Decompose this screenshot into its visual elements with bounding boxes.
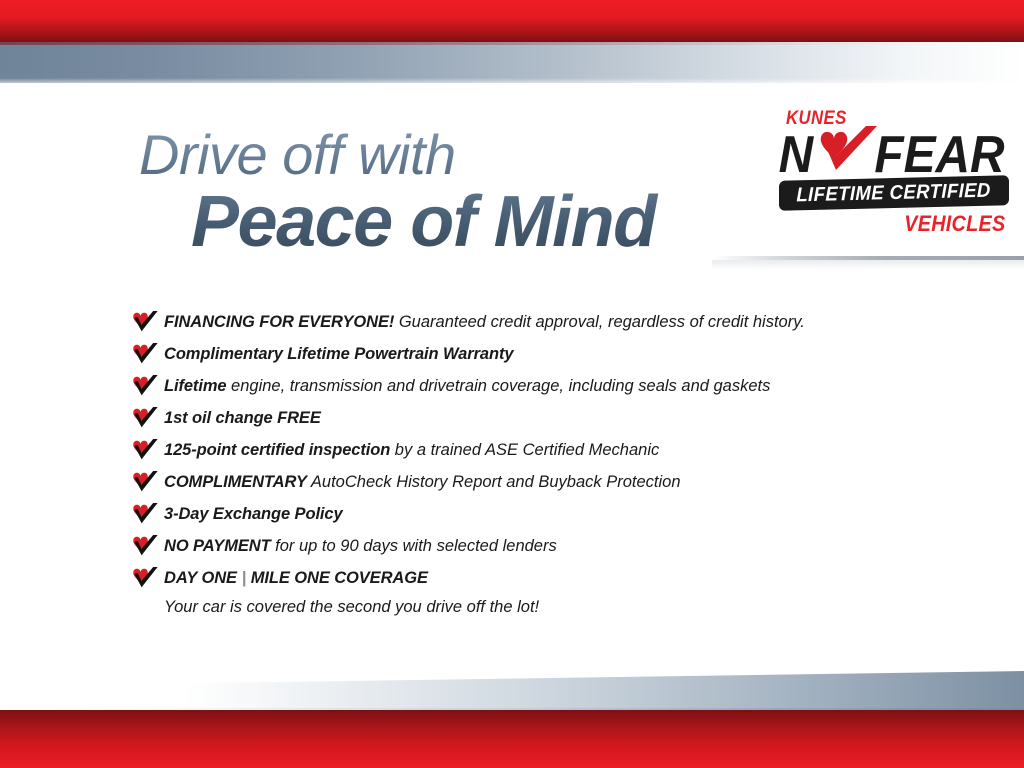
- benefits-list: FINANCING FOR EVERYONE! Guaranteed credi…: [131, 306, 931, 620]
- list-item-text: DAY ONE | MILE ONE COVERAGE: [164, 569, 428, 587]
- logo-no-fear-wordmark: N FEAR: [775, 124, 1013, 180]
- headline-block: Drive off with Peace of Mind: [139, 126, 739, 258]
- list-item-bold: 3-Day Exchange Policy: [164, 505, 343, 523]
- list-item: DAY ONE | MILE ONE COVERAGE Your car is …: [131, 562, 931, 620]
- list-item-rest: AutoCheck History Report and Buyback Pro…: [307, 473, 681, 491]
- logo-lifetime-certified-bar: LIFETIME CERTIFIED: [779, 175, 1009, 211]
- list-item-text: FINANCING FOR EVERYONE! Guaranteed credi…: [164, 313, 805, 331]
- list-item-bold: Complimentary Lifetime Powertrain Warran…: [164, 345, 513, 363]
- list-item: FINANCING FOR EVERYONE! Guaranteed credi…: [131, 306, 931, 338]
- list-item-bold-b: MILE ONE COVERAGE: [251, 569, 428, 587]
- list-item-text: Lifetime engine, transmission and drivet…: [164, 377, 770, 395]
- logo-vehicles-label: VEHICLES: [904, 211, 1005, 237]
- list-item-text: NO PAYMENT for up to 90 days with select…: [164, 537, 557, 555]
- heart-check-bullet-icon: [131, 406, 158, 428]
- list-item-rest: Guaranteed credit approval, regardless o…: [394, 313, 805, 331]
- list-item: 3-Day Exchange Policy: [131, 498, 931, 530]
- top-red-band: [0, 0, 1024, 42]
- promo-poster: Drive off with Peace of Mind KUNES N FEA…: [0, 0, 1024, 768]
- headline-line-1: Drive off with: [139, 126, 739, 184]
- heart-check-bullet-icon: [131, 534, 158, 556]
- heart-check-icon: [821, 126, 877, 170]
- list-item-text: COMPLIMENTARY AutoCheck History Report a…: [164, 473, 681, 491]
- heart-check-bullet-icon: [131, 566, 158, 588]
- list-item: 125-point certified inspection by a trai…: [131, 434, 931, 466]
- heart-check-bullet-icon: [131, 438, 158, 460]
- list-item-rest: engine, transmission and drivetrain cove…: [226, 377, 770, 395]
- list-item-text: Complimentary Lifetime Powertrain Warran…: [164, 345, 513, 363]
- list-item-bold-a: DAY ONE: [164, 569, 237, 587]
- list-item-separator: |: [242, 569, 247, 587]
- logo-letter-n: N: [779, 125, 814, 180]
- list-item-rest: for up to 90 days with selected lenders: [271, 537, 557, 555]
- heart-check-bullet-icon: [131, 502, 158, 524]
- list-item: NO PAYMENT for up to 90 days with select…: [131, 530, 931, 562]
- list-item-bold: 1st oil change FREE: [164, 409, 321, 427]
- heart-check-bullet-icon: [131, 374, 158, 396]
- heart-check-bullet-icon: [131, 342, 158, 364]
- list-item-bold: Lifetime: [164, 377, 226, 395]
- list-item: Complimentary Lifetime Powertrain Warran…: [131, 338, 931, 370]
- kunes-no-fear-logo: KUNES N FEAR LIFETIME CERTIFIED VEHICLES: [775, 108, 1013, 248]
- list-item-text: 1st oil change FREE: [164, 409, 321, 427]
- list-item-text: 3-Day Exchange Policy: [164, 505, 343, 523]
- bottom-red-band: [0, 710, 1024, 768]
- headline-line-2: Peace of Mind: [191, 186, 739, 258]
- list-item: 1st oil change FREE: [131, 402, 931, 434]
- list-item: Lifetime engine, transmission and drivet…: [131, 370, 931, 402]
- heart-check-bullet-icon: [131, 310, 158, 332]
- list-item-subtext: Your car is covered the second you drive…: [164, 594, 931, 620]
- list-item-rest: by a trained ASE Certified Mechanic: [390, 441, 659, 459]
- list-item-text: 125-point certified inspection by a trai…: [164, 441, 659, 459]
- logo-bar-label: LIFETIME CERTIFIED: [797, 179, 991, 207]
- no-fear-svg: N FEAR: [775, 124, 1013, 180]
- list-item: COMPLIMENTARY AutoCheck History Report a…: [131, 466, 931, 498]
- logo-word-fear: FEAR: [874, 125, 1004, 180]
- list-item-bold: NO PAYMENT: [164, 537, 271, 555]
- list-item-bold: COMPLIMENTARY: [164, 473, 307, 491]
- heart-check-bullet-icon: [131, 470, 158, 492]
- list-item-bold: FINANCING FOR EVERYONE!: [164, 313, 394, 331]
- bottom-gray-band: [0, 671, 1024, 711]
- list-item-bold: 125-point certified inspection: [164, 441, 390, 459]
- logo-divider: [712, 256, 1024, 260]
- top-gray-band: [0, 42, 1024, 83]
